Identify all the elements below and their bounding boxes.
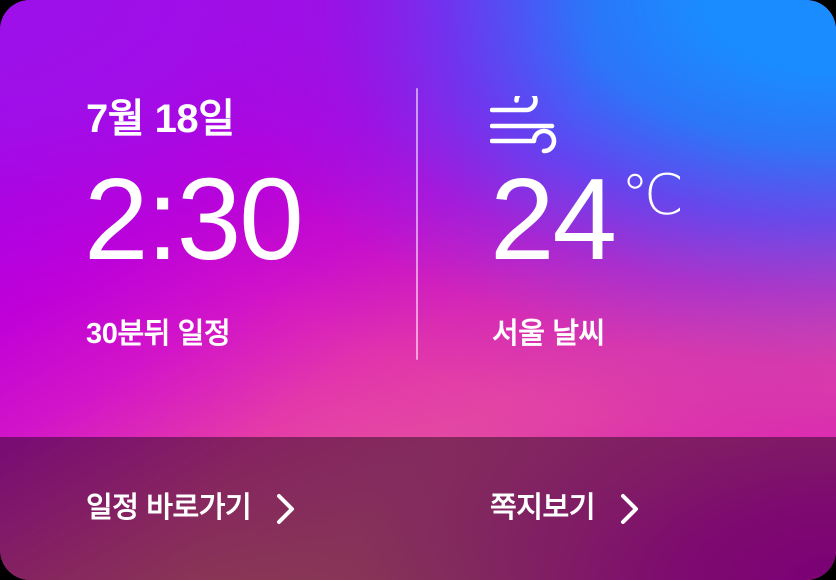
schedule-date: 7월 18일	[86, 99, 234, 139]
message-view-button[interactable]: 쪽지보기	[490, 437, 641, 580]
schedule-subtitle: 30분뒤 일정	[86, 320, 230, 349]
weather-temperature-value: 24	[490, 161, 615, 277]
action-bar: 일정 바로가기 쪽지보기	[0, 437, 836, 580]
schedule-weather-widget: 7월 18일 2:30 30분뒤 일정 24 ℃ 서울 날씨 일정 바로가기	[0, 0, 836, 580]
widget-top-section: 7월 18일 2:30 30분뒤 일정 24 ℃ 서울 날씨	[0, 0, 836, 437]
panel-divider	[416, 88, 418, 360]
weather-temperature-row: 24 ℃	[490, 161, 683, 277]
message-view-label: 쪽지보기	[490, 494, 595, 523]
schedule-shortcut-button[interactable]: 일정 바로가기	[86, 437, 297, 580]
schedule-shortcut-label: 일정 바로가기	[86, 494, 251, 523]
wind-icon	[490, 96, 568, 158]
weather-subtitle: 서울 날씨	[492, 320, 605, 349]
chevron-right-icon	[275, 492, 297, 526]
weather-temperature-unit: ℃	[621, 167, 683, 223]
schedule-time: 2:30	[84, 161, 302, 277]
chevron-right-icon	[619, 492, 641, 526]
